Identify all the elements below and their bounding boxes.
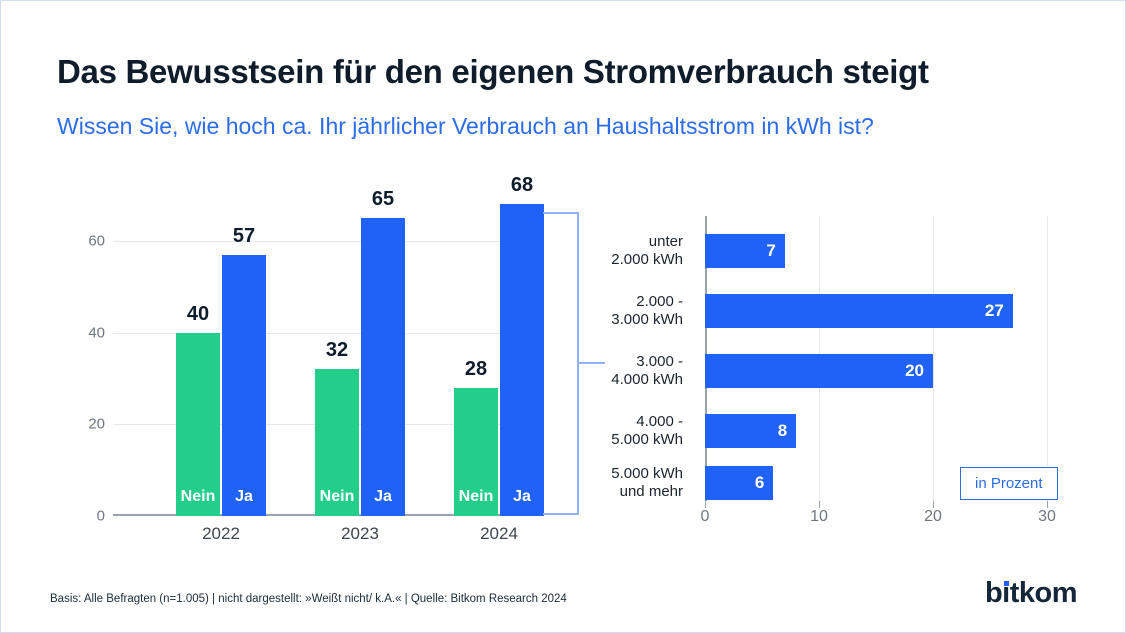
x-axis-tick-label: 10 <box>810 508 828 526</box>
category-label-row-2: 2.000 - 3.000 kWh <box>503 293 683 329</box>
bar-value-label: 6 <box>755 473 764 493</box>
x-axis-tick-mark <box>933 501 934 508</box>
gridline <box>933 216 934 501</box>
x-axis-tick-label: 2023 <box>341 524 379 544</box>
page-title: Das Bewusstsein für den eigenen Stromver… <box>57 53 1067 91</box>
x-axis-tick-label: 2022 <box>202 524 240 544</box>
x-axis-tick-mark <box>1047 501 1048 508</box>
left-chart-plot-area: 020406040Nein57Ja202232Nein65Ja202328Nei… <box>113 186 533 516</box>
y-axis-tick-label: 40 <box>73 324 105 341</box>
bracket-bottom-arm <box>543 513 579 515</box>
bar-2023-nein: 32Nein <box>315 369 359 516</box>
category-label-row-1: unter 2.000 kWh <box>503 233 683 269</box>
bar-value-label: 57 <box>233 225 255 248</box>
x-axis-tick-label: 20 <box>924 508 942 526</box>
gridline <box>113 241 533 242</box>
bar-value-label: 68 <box>511 174 533 197</box>
bar-2022-nein: 40Nein <box>176 333 220 516</box>
bar-value-label: 65 <box>372 188 394 211</box>
bar-value-label: 40 <box>187 303 209 326</box>
bar-value-label: 28 <box>465 358 487 381</box>
bar-2022-ja: 57Ja <box>222 255 266 516</box>
bar-value-label: 7 <box>766 241 775 261</box>
bar-series-label: Ja <box>235 488 253 506</box>
x-axis-tick-label: 0 <box>701 508 710 526</box>
bar-series-label: Ja <box>374 488 392 506</box>
bar-value-label: 20 <box>905 361 924 381</box>
bar-row-2: 27 <box>705 294 1013 328</box>
chart-awareness-by-year: 020406040Nein57Ja202232Nein65Ja202328Nei… <box>73 186 533 551</box>
x-axis-tick-mark <box>819 501 820 508</box>
x-axis-tick-mark <box>705 501 706 508</box>
bar-2024-nein: 28Nein <box>454 388 498 516</box>
bar-row-4: 8 <box>705 414 796 448</box>
bar-series-label: Nein <box>320 488 355 506</box>
x-axis-tick-label: 30 <box>1038 508 1056 526</box>
y-axis-tick-label: 60 <box>73 233 105 250</box>
unit-badge: in Prozent <box>960 467 1058 500</box>
bar-series-label: Nein <box>459 488 494 506</box>
category-label-row-4: 4.000 - 5.000 kWh <box>503 413 683 449</box>
logo-dot-icon <box>1004 581 1009 586</box>
infographic-page: Das Bewusstsein für den eigenen Stromver… <box>0 0 1126 633</box>
bar-row-1: 7 <box>705 234 785 268</box>
bar-row-5: 6 <box>705 466 773 500</box>
y-axis-tick-label: 20 <box>73 416 105 433</box>
y-axis-tick-label: 0 <box>73 508 105 525</box>
gridline <box>1047 216 1048 501</box>
right-chart-plot-area: 01020307unter 2.000 kWh272.000 - 3.000 k… <box>705 216 1047 501</box>
bar-value-label: 8 <box>778 421 787 441</box>
bracket-top-arm <box>543 212 579 214</box>
x-axis-tick-label: 2024 <box>480 524 518 544</box>
category-label-row-3: 3.000 - 4.000 kWh <box>503 353 683 389</box>
category-label-row-5: 5.000 kWh und mehr <box>503 465 683 501</box>
bar-value-label: 32 <box>326 339 348 362</box>
source-footnote: Basis: Alle Befragten (n=1.005) | nicht … <box>50 593 567 605</box>
bar-2023-ja: 65Ja <box>361 218 405 516</box>
page-subtitle: Wissen Sie, wie hoch ca. Ihr jährlicher … <box>57 113 1067 140</box>
bar-series-label: Nein <box>181 488 216 506</box>
bar-value-label: 27 <box>985 301 1004 321</box>
bar-row-3: 20 <box>705 354 933 388</box>
logo-wordmark: bitkom <box>985 577 1077 609</box>
bitkom-logo: bitkom <box>985 579 1077 608</box>
